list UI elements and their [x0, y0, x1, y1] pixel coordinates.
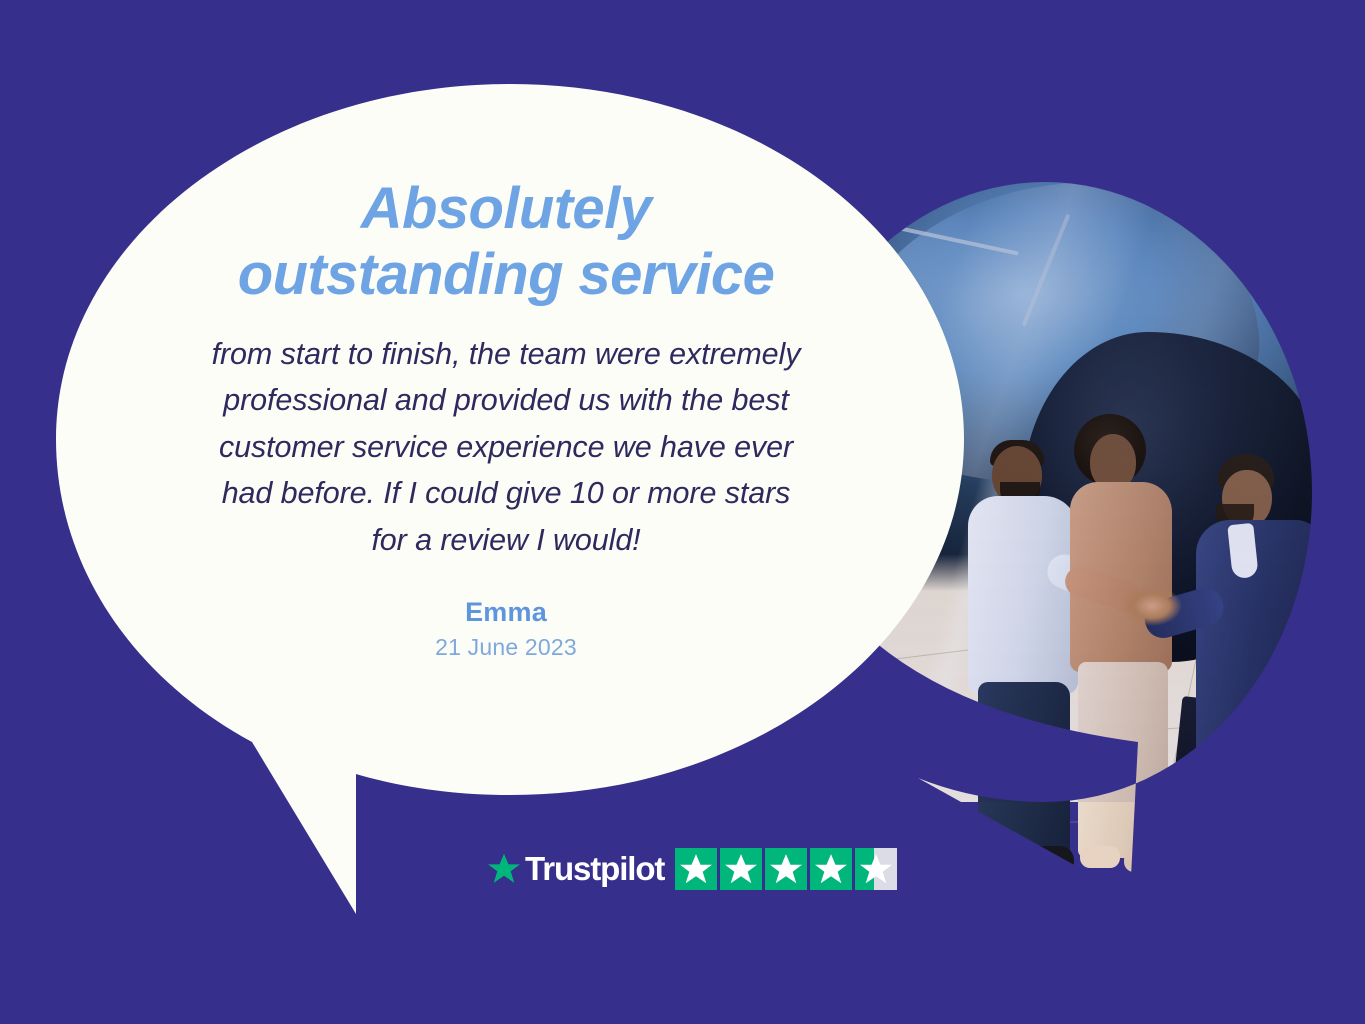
star-2-full[interactable] [720, 848, 762, 890]
review-card: Absolutely outstanding service from star… [0, 0, 1365, 1024]
customer-woman-shoe [1080, 846, 1120, 868]
trustpilot-rating-bar[interactable]: Trustpilot [487, 848, 897, 890]
star-icon [859, 852, 893, 886]
star-icon [679, 852, 713, 886]
star-3-full[interactable] [765, 848, 807, 890]
star-icon [814, 852, 848, 886]
review-body-line-4: had before. If I could give 10 or more s… [222, 476, 791, 510]
review-title-line-1: Absolutely [361, 176, 652, 241]
review-author: Emma [86, 597, 926, 628]
review-body-line-2: professional and provided us with the be… [223, 383, 789, 417]
customer-man-shoe [1026, 846, 1074, 870]
star-1-full[interactable] [675, 848, 717, 890]
review-body-line-1: from start to finish, the team were extr… [212, 337, 801, 371]
review-title-line-2: outstanding service [238, 242, 775, 307]
star-5-half[interactable] [855, 848, 897, 890]
review-title: Absolutely outstanding service [86, 176, 926, 307]
review-content: Absolutely outstanding service from star… [86, 176, 926, 661]
customer-man-shoe [974, 858, 1026, 884]
star-4-full[interactable] [810, 848, 852, 890]
star-icon [724, 852, 758, 886]
review-body-line-3: customer service experience we have ever [219, 430, 793, 464]
trustpilot-stars[interactable] [675, 848, 897, 890]
trustpilot-star-icon [487, 852, 521, 886]
salesman-trousers [1204, 758, 1312, 908]
review-date: 21 June 2023 [86, 634, 926, 661]
review-body-line-5: for a review I would! [371, 523, 640, 557]
review-body: from start to finish, the team were extr… [86, 331, 926, 563]
customer-woman-shoe [1124, 850, 1164, 872]
trustpilot-wordmark: Trustpilot [525, 852, 664, 885]
trustpilot-logo[interactable]: Trustpilot [487, 852, 664, 886]
star-icon [769, 852, 803, 886]
